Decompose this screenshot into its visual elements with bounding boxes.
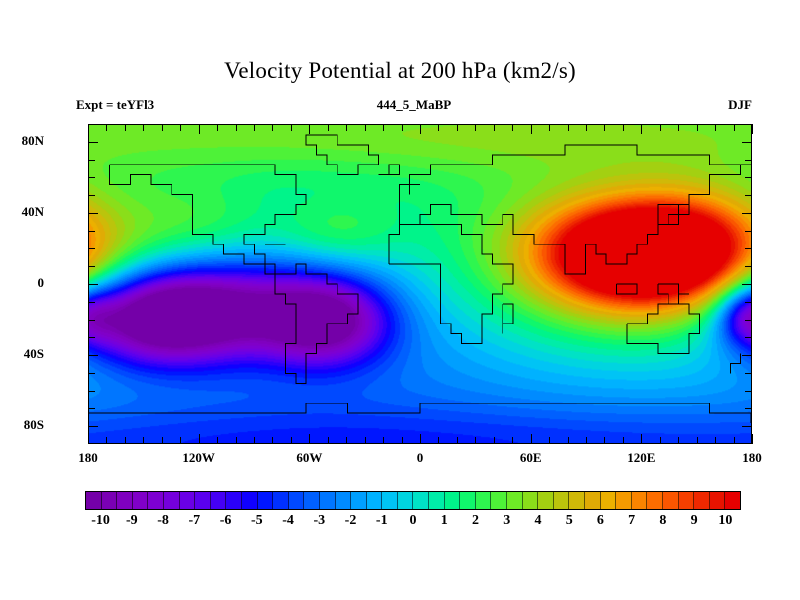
x-axis-tick-top [549, 124, 550, 131]
x-axis-tick [272, 437, 273, 444]
y-axis-tick [88, 320, 95, 321]
colorbar-tick-labels: -10-9-8-7-6-5-4-3-2-1012345678910 [85, 513, 741, 533]
x-axis-tick [180, 437, 181, 444]
y-axis-tick [742, 284, 752, 285]
colorbar-cell [429, 492, 445, 509]
y-axis-label: 40S [0, 346, 44, 362]
x-axis-tick-top [272, 124, 273, 131]
x-axis-tick-top [697, 124, 698, 131]
x-axis-tick-top [199, 124, 200, 134]
x-axis-tick [604, 437, 605, 444]
colorbar-cell [647, 492, 663, 509]
x-axis-tick-top [88, 124, 89, 134]
x-axis-tick [660, 437, 661, 444]
map-plot-area [88, 124, 752, 444]
y-axis-tick [742, 355, 752, 356]
colorbar-cell [491, 492, 507, 509]
colorbar-cell [211, 492, 227, 509]
x-axis-tick-top [217, 124, 218, 131]
colorbar-cell [398, 492, 414, 509]
x-axis-tick-top [641, 124, 642, 134]
y-axis-tick [88, 408, 95, 409]
x-axis-tick-top [254, 124, 255, 131]
y-axis-tick [88, 284, 98, 285]
x-axis-tick [512, 437, 513, 444]
x-axis-tick [734, 437, 735, 444]
y-axis-label: 0 [0, 275, 44, 291]
x-axis-tick [236, 437, 237, 444]
colorbar-cell [148, 492, 164, 509]
y-axis-tick [745, 302, 752, 303]
x-axis-tick [697, 437, 698, 444]
x-axis-tick-top [752, 124, 753, 134]
y-axis-label: 80N [0, 133, 44, 149]
x-axis-label: 180 [717, 450, 787, 466]
x-axis-label: 0 [385, 450, 455, 466]
x-axis-label: 60W [274, 450, 344, 466]
x-axis-tick [309, 434, 310, 444]
x-axis-tick [438, 437, 439, 444]
y-axis-tick [88, 177, 95, 178]
colorbar-cell [336, 492, 352, 509]
x-axis-tick [125, 437, 126, 444]
x-axis-tick-top [143, 124, 144, 131]
colorbar-gradient [85, 491, 741, 510]
y-axis-tick [88, 160, 95, 161]
x-axis-tick-top [346, 124, 347, 131]
x-axis-tick-top [438, 124, 439, 131]
y-axis-tick [745, 266, 752, 267]
x-axis-tick-top [512, 124, 513, 131]
x-axis-tick [402, 437, 403, 444]
y-axis-tick [745, 373, 752, 374]
colorbar-cell [273, 492, 289, 509]
x-axis-label: 180 [53, 450, 123, 466]
y-axis-tick [88, 391, 95, 392]
y-axis-tick [745, 231, 752, 232]
colorbar-cell [102, 492, 118, 509]
colorbar-cell [164, 492, 180, 509]
x-axis-tick-top [291, 124, 292, 131]
colorbar-cell [507, 492, 523, 509]
x-axis-tick-top [494, 124, 495, 131]
x-axis-tick [475, 437, 476, 444]
y-axis-tick [745, 160, 752, 161]
x-axis-tick [420, 434, 421, 444]
y-axis-tick [88, 337, 95, 338]
x-axis-tick-top [106, 124, 107, 131]
y-axis-tick [88, 195, 95, 196]
y-axis-tick [88, 213, 98, 214]
season-label: DJF [728, 97, 752, 113]
y-axis-tick [745, 337, 752, 338]
colorbar-cell [585, 492, 601, 509]
colorbar-cell [569, 492, 585, 509]
colorbar-cell [725, 492, 740, 509]
x-axis-tick-top [531, 124, 532, 134]
x-axis-tick-top [660, 124, 661, 131]
x-axis-tick [143, 437, 144, 444]
velocity-potential-contour-field [89, 125, 751, 443]
x-axis-tick [641, 434, 642, 444]
x-axis-tick [199, 434, 200, 444]
y-axis-tick [88, 142, 98, 143]
x-axis-tick-top [475, 124, 476, 131]
x-axis-tick [254, 437, 255, 444]
colorbar-cell [367, 492, 383, 509]
subtitle-row: Expt = teYFl3 444_5_MaBP DJF [76, 97, 752, 115]
x-axis-tick-top [604, 124, 605, 131]
y-axis-label: 80S [0, 417, 44, 433]
page-title: Velocity Potential at 200 hPa (km2/s) [0, 58, 800, 84]
case-label: 444_5_MaBP [76, 97, 752, 113]
x-axis-tick-top [678, 124, 679, 131]
colorbar-cell [117, 492, 133, 509]
colorbar-cell [226, 492, 242, 509]
colorbar-cell [663, 492, 679, 509]
x-axis-tick-top [568, 124, 569, 131]
colorbar-cell [242, 492, 258, 509]
colorbar-cell [195, 492, 211, 509]
colorbar-cell [460, 492, 476, 509]
colorbar-cell [694, 492, 710, 509]
x-axis-tick [531, 434, 532, 444]
x-axis-tick [88, 434, 89, 444]
colorbar-cell [554, 492, 570, 509]
colorbar-cell [679, 492, 695, 509]
x-axis-tick [365, 437, 366, 444]
y-axis-tick [88, 355, 98, 356]
x-axis-tick-top [162, 124, 163, 131]
x-axis-tick-top [623, 124, 624, 131]
y-axis-tick [88, 248, 95, 249]
colorbar-cell [86, 492, 102, 509]
x-axis-label: 60E [496, 450, 566, 466]
colorbar-cell [320, 492, 336, 509]
x-axis-tick-top [734, 124, 735, 131]
x-axis-tick [328, 437, 329, 444]
y-axis-tick [88, 302, 95, 303]
x-axis-tick [715, 437, 716, 444]
y-axis-tick [742, 426, 752, 427]
colorbar-cell [304, 492, 320, 509]
x-axis-tick [586, 437, 587, 444]
x-axis-tick [568, 437, 569, 444]
x-axis-tick [457, 437, 458, 444]
x-axis-tick-top [236, 124, 237, 131]
x-axis-tick-top [586, 124, 587, 131]
y-axis-tick [742, 142, 752, 143]
colorbar-cell [538, 492, 554, 509]
x-axis-tick [549, 437, 550, 444]
x-axis-tick [678, 437, 679, 444]
x-axis-tick [494, 437, 495, 444]
x-axis-tick [217, 437, 218, 444]
x-axis-tick [346, 437, 347, 444]
x-axis-tick-top [328, 124, 329, 131]
colorbar-cell [523, 492, 539, 509]
y-axis-tick [745, 195, 752, 196]
colorbar-label: 10 [702, 513, 748, 529]
x-axis-tick [752, 434, 753, 444]
colorbar-cell [258, 492, 274, 509]
x-axis-tick [162, 437, 163, 444]
y-axis-label: 40N [0, 204, 44, 220]
x-axis-label: 120E [606, 450, 676, 466]
y-axis-tick [745, 177, 752, 178]
colorbar-cell [382, 492, 398, 509]
colorbar-cell [476, 492, 492, 509]
x-axis-tick [383, 437, 384, 444]
x-axis-tick-top [402, 124, 403, 131]
colorbar-cell [710, 492, 726, 509]
x-axis-tick-top [125, 124, 126, 131]
x-axis-label: 120W [164, 450, 234, 466]
x-axis-tick-top [715, 124, 716, 131]
colorbar-cell [601, 492, 617, 509]
y-axis-tick [742, 213, 752, 214]
y-axis-tick [745, 408, 752, 409]
y-axis-tick [88, 426, 98, 427]
x-axis-tick-top [457, 124, 458, 131]
x-axis-tick-top [180, 124, 181, 131]
colorbar-cell [413, 492, 429, 509]
y-axis-tick [745, 320, 752, 321]
colorbar [85, 491, 741, 510]
x-axis-tick-top [309, 124, 310, 134]
y-axis-tick [745, 391, 752, 392]
x-axis-tick [291, 437, 292, 444]
colorbar-cell [289, 492, 305, 509]
colorbar-cell [133, 492, 149, 509]
y-axis-tick [745, 248, 752, 249]
colorbar-cell [351, 492, 367, 509]
x-axis-tick [106, 437, 107, 444]
x-axis-tick [623, 437, 624, 444]
y-axis-tick [88, 231, 95, 232]
colorbar-cell [445, 492, 461, 509]
colorbar-cell [180, 492, 196, 509]
x-axis-tick-top [365, 124, 366, 131]
y-axis-tick [88, 266, 95, 267]
y-axis-tick [88, 373, 95, 374]
colorbar-cell [632, 492, 648, 509]
x-axis-tick-top [383, 124, 384, 131]
x-axis-tick-top [420, 124, 421, 134]
colorbar-cell [616, 492, 632, 509]
